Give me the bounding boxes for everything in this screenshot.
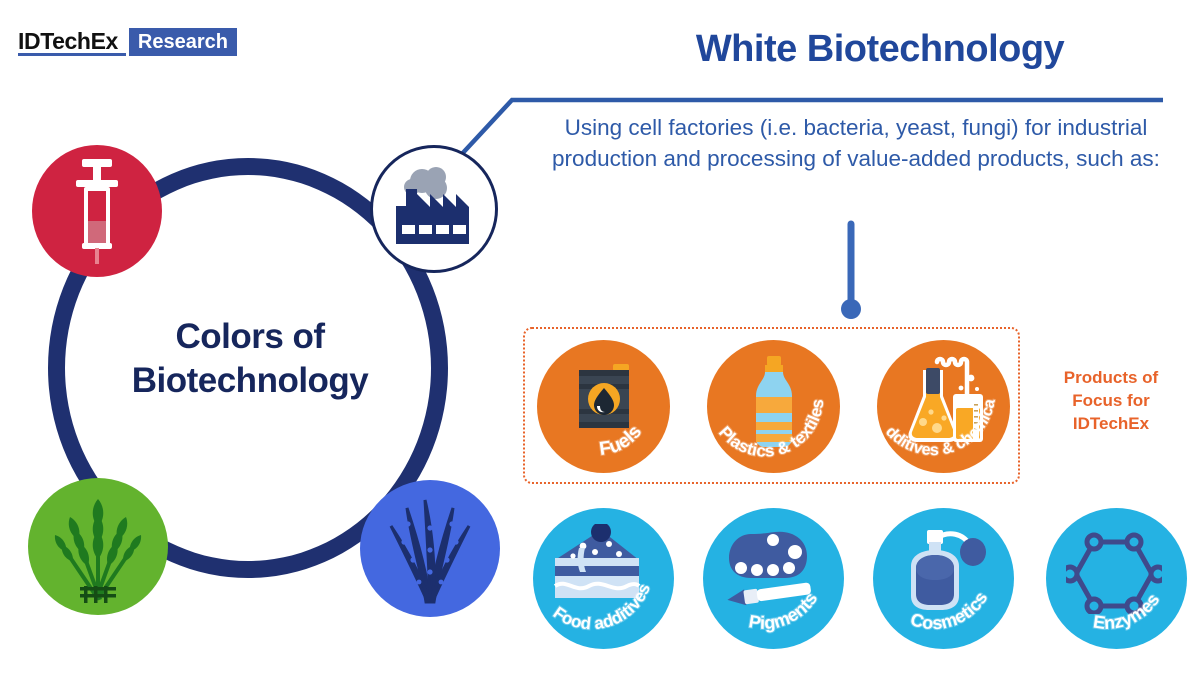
focus-label-line2: Focus for [1036,389,1186,412]
focus-label-line1: Products of [1036,366,1186,389]
connector-dot [841,299,861,319]
flask-beaker-icon [899,356,991,448]
infographic-canvas: IDTechEx Research White Biotechnology Us… [0,0,1200,675]
product-circle-pigments[interactable]: Pigments [703,508,844,649]
page-description: Using cell factories (i.e. bacteria, yea… [536,112,1176,174]
wheel-node-green-biotechnology[interactable] [28,478,168,615]
molecule-icon [1066,526,1162,614]
cake-slice-icon [547,524,647,606]
wheel-center-label: Colors of Biotechnology [90,315,410,403]
product-circle-plastics-textiles[interactable]: Plastics & textiles [707,340,840,473]
product-circle-fuels[interactable]: Fuels [537,340,670,473]
oil-barrel-icon [571,362,637,434]
product-circle-enzymes[interactable]: Enzymes [1046,508,1187,649]
colors-of-biotechnology-wheel: Colors of Biotechnology [20,140,480,600]
page-title: White Biotechnology [600,28,1160,71]
wheat-icon [42,491,154,603]
idtechex-logo: IDTechEx Research [18,28,237,56]
product-circle-cosmetics[interactable]: Cosmetics [873,508,1014,649]
palette-brush-icon [721,528,819,608]
product-circle-additives-chemicals[interactable]: Additives & chemicals [877,340,1010,473]
product-circle-food-additives[interactable]: Food additives [533,508,674,649]
perfume-bottle-icon [891,522,991,614]
algae-icon [377,494,483,604]
products-of-focus-label: Products of Focus for IDTechEx [1036,366,1186,435]
factory-icon [386,164,482,254]
wheel-center-line1: Colors of [90,315,410,359]
syringe-icon [68,156,126,266]
focus-label-line3: IDTechEx [1036,412,1186,435]
plastic-bottle-icon [751,356,797,448]
wheel-node-white-biotechnology[interactable] [370,145,498,273]
wheel-node-blue-biotechnology[interactable] [360,480,500,617]
logo-research-badge: Research [129,28,237,56]
logo-wordmark: IDTechEx [18,28,126,56]
wheel-center-line2: Biotechnology [90,359,410,403]
wheel-node-red-biotechnology[interactable] [32,145,162,277]
